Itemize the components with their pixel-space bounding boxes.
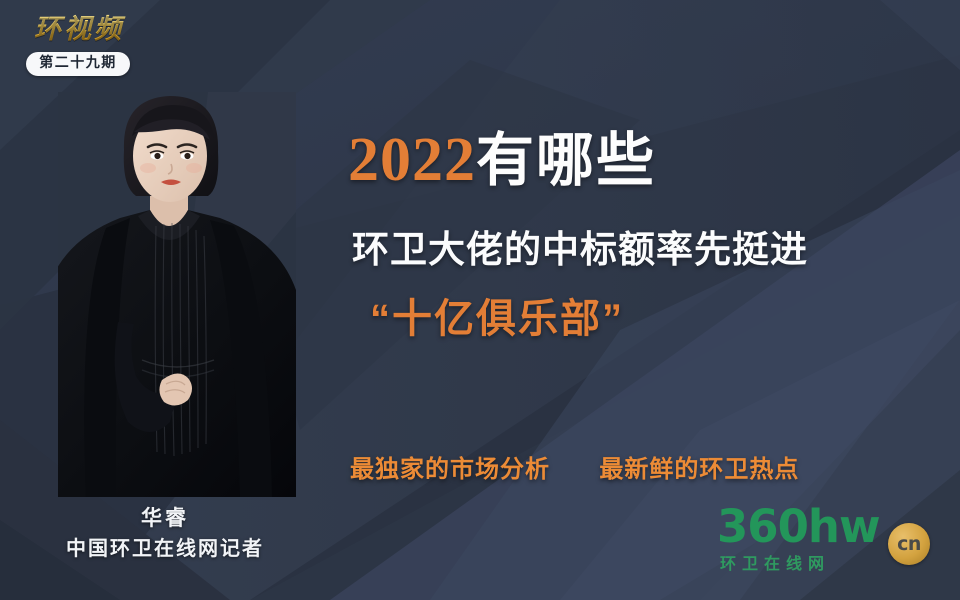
presenter-name: 华睿 — [0, 505, 330, 532]
watermark-main-row: 360hw cn — [717, 505, 932, 549]
presenter-role: 中国环卫在线网记者 — [0, 535, 330, 564]
issue-badge: 第二十九期 — [26, 52, 130, 76]
presenter-caption: 华睿 中国环卫在线网记者 — [0, 505, 330, 564]
cn-domain-badge-icon: cn — [888, 523, 930, 565]
headline-year: 2022 — [348, 126, 476, 194]
brand-block: 环视频 第二十九期 — [14, 14, 142, 76]
headline-block: 2022有哪些 环卫大佬的中标额率先挺进 “十亿俱乐部” — [348, 128, 944, 341]
headline-line-1-rest: 有哪些 — [476, 128, 656, 193]
tagline-block: 最独家的市场分析 最新鲜的环卫热点 — [350, 449, 799, 484]
tagline-left: 最独家的市场分析 — [350, 456, 550, 483]
site-watermark-logo: 360hw cn 环卫在线网 — [717, 505, 932, 574]
tagline-right: 最新鲜的环卫热点 — [599, 456, 799, 483]
presenter-portrait-illustration — [58, 92, 296, 497]
video-cover-poster: 环视频 第二十九期 — [0, 0, 960, 600]
headline-line-1: 2022有哪些 — [348, 128, 944, 194]
presenter-photo — [58, 92, 296, 497]
headline-line-2: 环卫大佬的中标额率先挺进 — [352, 230, 944, 271]
brand-title: 环视频 — [16, 14, 142, 45]
watermark-subtitle: 环卫在线网 — [720, 550, 888, 574]
headline-line-3: “十亿俱乐部” — [370, 297, 944, 341]
